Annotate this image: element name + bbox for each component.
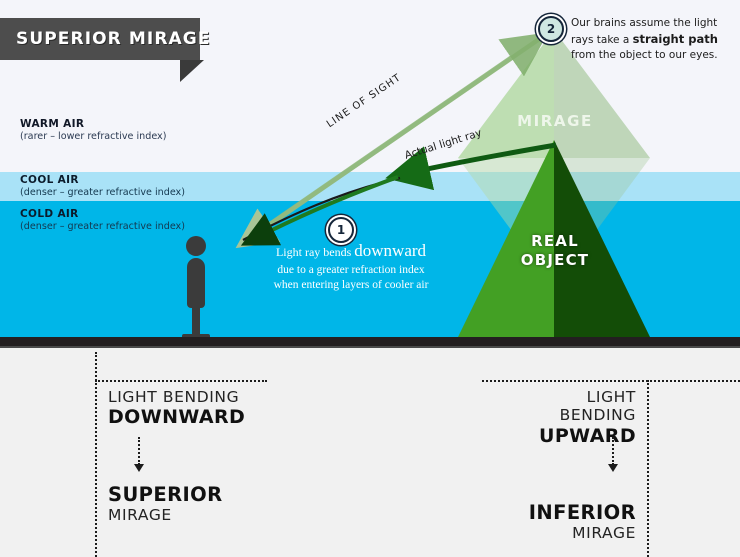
conclusion-right: LIGHT BENDING UPWARD INFERIOR MIRAGE [529, 388, 636, 543]
conclusion-left-result-small: MIRAGE [108, 506, 245, 525]
step-1-emphasis: downward [354, 241, 426, 260]
step-1-line-2: due to a greater refraction index [256, 263, 446, 279]
step-2-annotation: Our brains assume the light rays take a … [571, 16, 733, 63]
title-banner-tail [180, 60, 204, 82]
line-of-sight-ray-to-apex [250, 38, 540, 238]
warm-air-heading: WARM AIR [20, 118, 166, 131]
conclusion-right-big: UPWARD [529, 425, 636, 447]
page-title: SUPERIOR MIRAGE [0, 29, 211, 49]
conclusion-right-result-small: MIRAGE [529, 524, 636, 543]
conclusion-right-small: LIGHT BENDING [529, 388, 636, 425]
conclusion-right-arrow-shaft [612, 437, 614, 465]
cold-air-caption: COLD AIR (denser – greater refractive in… [20, 208, 185, 234]
cool-air-heading: COOL AIR [20, 174, 185, 187]
conclusion-left: LIGHT BENDING DOWNWARD SUPERIOR MIRAGE [108, 388, 245, 525]
conclusion-right-result-big: INFERIOR [529, 501, 636, 524]
guide-line-right-vertical [647, 380, 649, 557]
step-marker-2: 2 [538, 16, 564, 42]
ground-surface [0, 337, 740, 348]
warm-air-subtext: (rarer – lower refractive index) [20, 131, 166, 143]
guide-line-right-horizontal [482, 380, 740, 382]
cold-air-subtext: (denser – greater refractive index) [20, 221, 185, 233]
conclusion-left-arrow-head-icon [134, 464, 144, 472]
infographic-canvas: MIRAGE REAL OBJECT [0, 0, 740, 557]
warm-air-caption: WARM AIR (rarer – lower refractive index… [20, 118, 166, 144]
step-1-annotation: Light ray bends downward due to a greate… [256, 240, 446, 294]
guide-line-left-vertical [95, 352, 97, 557]
cool-air-caption: COOL AIR (denser – greater refractive in… [20, 174, 185, 200]
step-1-line-3: when entering layers of cooler air [256, 278, 446, 294]
step-2-part-2: from the object to our eyes. [571, 49, 718, 61]
step-1-prefix: Light ray bends [276, 245, 354, 259]
step-2-emphasis: straight path [633, 32, 718, 46]
conclusion-right-arrow-head-icon [608, 464, 618, 472]
cool-air-subtext: (denser – greater refractive index) [20, 187, 185, 199]
title-banner: SUPERIOR MIRAGE [0, 18, 200, 60]
guide-line-left-horizontal [95, 380, 267, 382]
conclusion-left-arrow-shaft [138, 437, 140, 465]
conclusion-left-result-big: SUPERIOR [108, 483, 245, 506]
step-1-line-1: Light ray bends downward [256, 240, 446, 263]
cold-air-heading: COLD AIR [20, 208, 185, 221]
conclusion-left-big: DOWNWARD [108, 406, 245, 428]
conclusion-left-small: LIGHT BENDING [108, 388, 245, 406]
